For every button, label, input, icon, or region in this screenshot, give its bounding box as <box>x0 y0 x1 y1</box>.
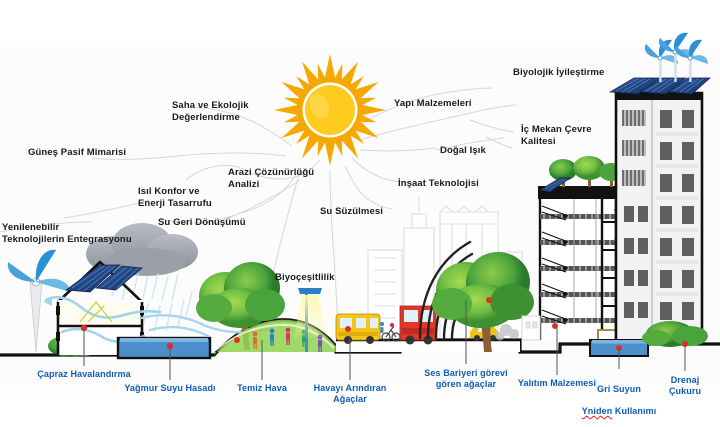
label-yenilenebilir-teknolojilerin-entegrasyonu: Yenilenebilir Teknolojilerin Entegrasyon… <box>2 222 132 245</box>
label-su-suzulmesi: Su Süzülmesi <box>320 206 383 218</box>
label-saha-ve-ekolojik-degerlendirme: Saha ve Ekolojik Değerlendirme <box>172 100 249 123</box>
label-drenaj-cukuru: Drenaj Çukuru <box>668 375 703 397</box>
gri-suyun-line2-rest: Kullanımı <box>612 406 656 416</box>
label-biyolojik-iyilestirme: Biyolojik İyileştirme <box>513 67 604 79</box>
label-ic-mekan-cevre-kalitesi: İç Mekan Çevre Kalitesi <box>521 124 592 147</box>
label-yagmur-suyu-hasadi: Yağmur Suyu Hasadı <box>124 383 215 394</box>
label-arazi-cozunurlugu-analizi: Arazi Çözünürlüğü Analizi <box>228 167 314 190</box>
label-havayi-arindiran-agaclar: Havayı Arındıran Ağaçlar <box>314 383 387 405</box>
label-capraz-havalandirma: Çapraz Havalandırma <box>37 369 130 380</box>
gri-suyun-line1: Gri Suyun <box>597 384 641 394</box>
infographic-canvas: Güneş Pasif Mimarisi Saha ve Ekolojik De… <box>0 0 720 427</box>
label-gri-suyun-yniden-kullanimi: Gri Suyun Yniden Kullanımı <box>582 373 657 417</box>
label-yapi-malzemeleri: Yapı Malzemeleri <box>394 98 472 110</box>
label-isil-konfor-enerji-tasarrufu: Isıl Konfor ve Enerji Tasarrufu <box>138 186 212 209</box>
gri-suyun-misspelled-word: Yniden <box>582 406 613 416</box>
label-dogal-isik: Doğal Işık <box>440 145 486 157</box>
label-temiz-hava: Temiz Hava <box>237 383 287 394</box>
label-gunes-pasif-mimarisi: Güneş Pasif Mimarisi <box>28 147 126 159</box>
label-biyocesitlilik: Biyoçeşitlilik <box>275 272 334 284</box>
label-su-geri-donusumu: Su Geri Dönüşümü <box>158 217 246 229</box>
label-insaat-teknolojisi: İnşaat Teknolojisi <box>398 178 479 190</box>
label-ses-bariyeri-goren-agaclar: Ses Bariyeri görevi gören ağaçlar <box>424 368 507 390</box>
